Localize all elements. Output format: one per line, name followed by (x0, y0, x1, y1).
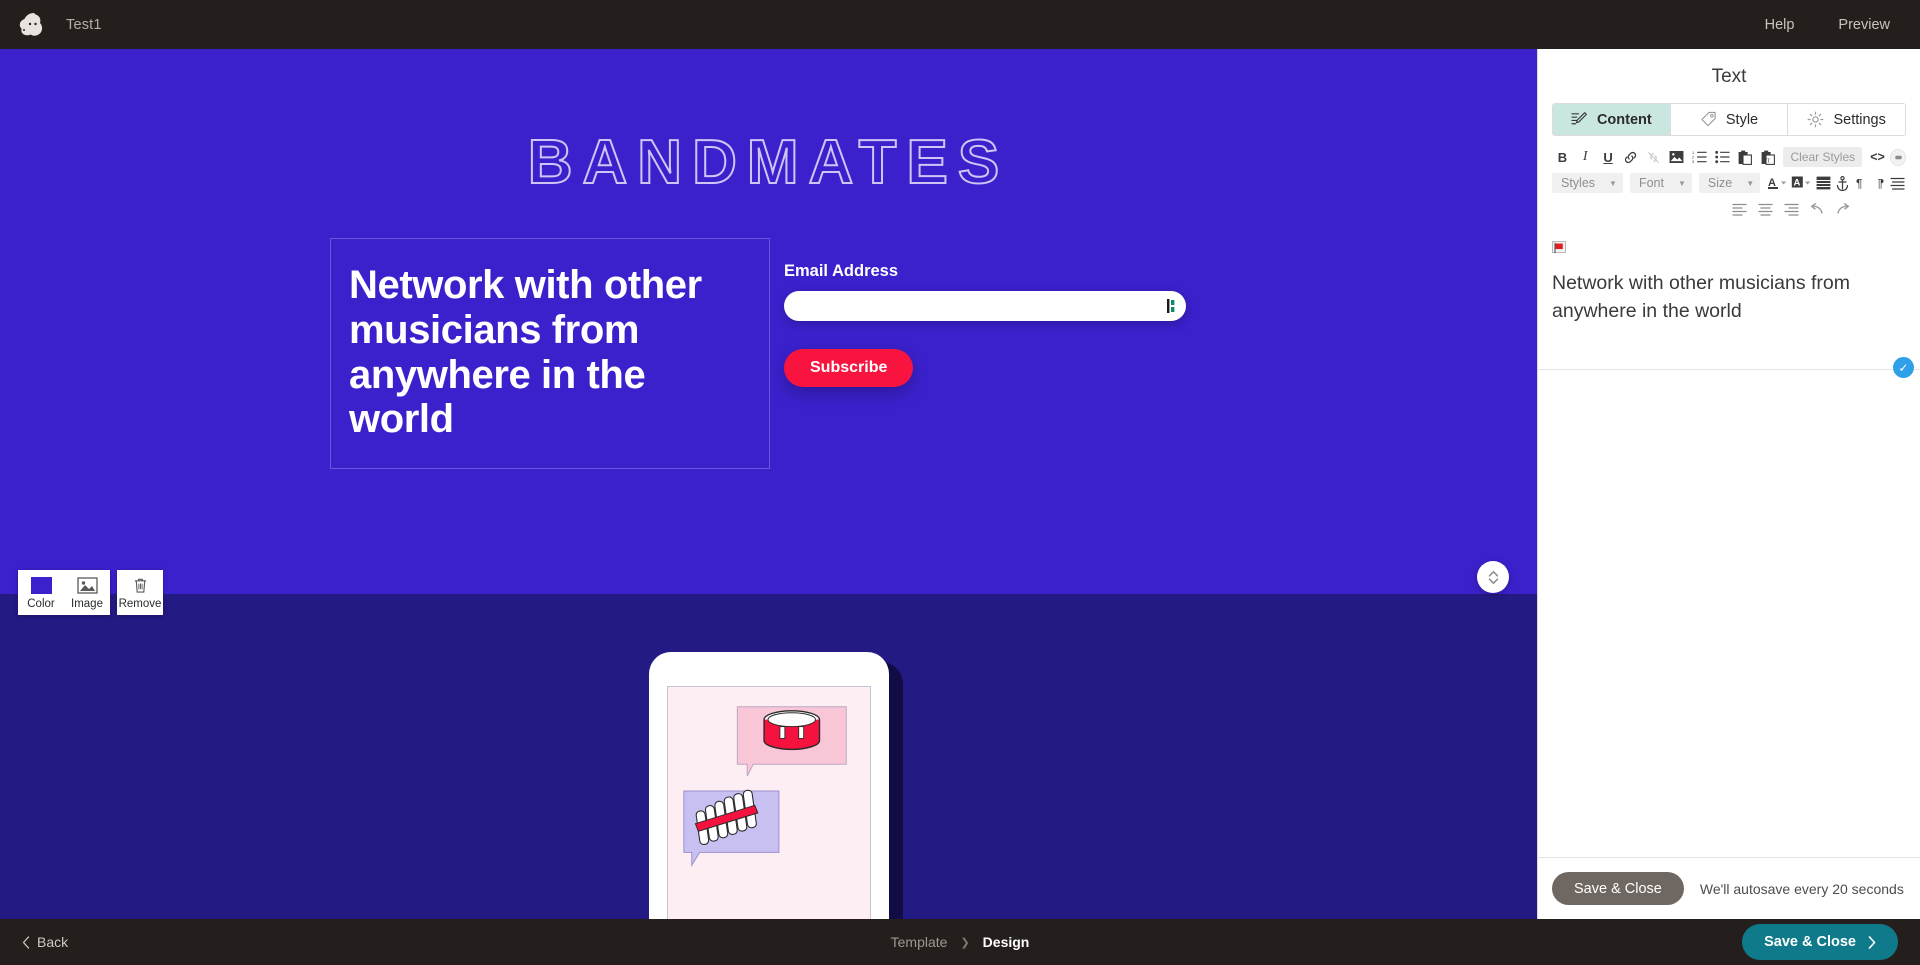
svg-text:A: A (1794, 178, 1801, 189)
signup-form-block[interactable]: Email Address Subscribe (784, 238, 1214, 469)
svg-text:¶: ¶ (1878, 177, 1884, 191)
document-title: Test1 (66, 17, 102, 33)
ordered-list-icon: 1 2 3 (1692, 150, 1707, 164)
chevron-left-icon (22, 936, 30, 949)
top-bar-actions: Help Preview (1765, 17, 1920, 33)
panel-title: Text (1538, 49, 1920, 103)
clear-styles-button[interactable]: Clear Styles (1783, 147, 1862, 167)
align-left-icon (1732, 203, 1747, 216)
tab-content[interactable]: Content (1553, 104, 1671, 135)
pilcrow-icon: ¶ (1855, 176, 1867, 190)
tab-content-label: Content (1597, 112, 1652, 128)
more-options-icon (1894, 153, 1903, 162)
tab-settings-label: Settings (1833, 112, 1885, 128)
bold-button[interactable]: B (1552, 146, 1573, 168)
italic-button[interactable]: I (1575, 146, 1596, 168)
email-input[interactable] (784, 291, 1186, 321)
tab-settings[interactable]: Settings (1788, 104, 1905, 135)
content-pencil-icon (1571, 111, 1588, 128)
ordered-list-button[interactable]: 1 2 3 (1689, 146, 1710, 168)
background-image-button[interactable]: Image (64, 570, 110, 615)
breadcrumb-separator-icon: ❯ (960, 936, 969, 949)
chevron-up-down-icon (1487, 569, 1500, 586)
undo-button[interactable] (1806, 198, 1828, 220)
app-root: Test1 Help Preview BANDMATES Network wit… (0, 0, 1920, 965)
drum-icon (764, 711, 819, 750)
editor-text-content[interactable]: Network with other musicians from anywhe… (1552, 270, 1906, 325)
underline-button[interactable]: U (1598, 146, 1619, 168)
background-color-button[interactable]: A (1791, 172, 1813, 194)
panel-tabs: Content Style Settings (1552, 103, 1906, 136)
back-button[interactable]: Back (0, 934, 68, 950)
trash-icon (130, 577, 151, 594)
svg-text:¶: ¶ (1856, 177, 1862, 191)
paste-icon (1738, 150, 1752, 165)
color-image-group: Color Image (18, 570, 110, 615)
toolbar-row-3 (1552, 196, 1906, 222)
link-icon (1623, 150, 1638, 165)
size-dropdown[interactable]: Size ▼ (1699, 173, 1760, 193)
align-left-button[interactable] (1728, 198, 1750, 220)
autosave-note: We'll autosave every 20 seconds (1700, 881, 1904, 897)
tab-style[interactable]: Style (1671, 104, 1789, 135)
color-button-label: Color (27, 598, 54, 610)
phone-illustration-area (0, 594, 1537, 919)
email-canvas[interactable]: BANDMATES Network with other musicians f… (0, 49, 1537, 919)
remove-group: Remove (117, 570, 163, 615)
chevron-right-icon (1868, 936, 1876, 949)
breadcrumb-item-design: Design (983, 934, 1030, 950)
svg-text:3: 3 (1692, 159, 1695, 164)
back-button-label: Back (37, 934, 68, 950)
redo-button[interactable] (1832, 198, 1854, 220)
drum-chat-bubble (737, 707, 846, 776)
text-block-content: Network with other musicians from anywhe… (349, 263, 751, 442)
text-color-button[interactable]: A (1767, 172, 1789, 194)
styles-dropdown[interactable]: Styles ▼ (1552, 173, 1623, 193)
align-center-button[interactable] (1754, 198, 1776, 220)
bottom-save-close-button[interactable]: Save & Close (1742, 924, 1898, 960)
panel-save-close-button[interactable]: Save & Close (1552, 872, 1684, 905)
tab-style-label: Style (1726, 112, 1758, 128)
remove-link-button[interactable] (1643, 146, 1664, 168)
style-tag-icon (1700, 111, 1717, 128)
paste-as-text-button[interactable]: T (1758, 146, 1779, 168)
bottom-bar: Back Template ❯ Design Save & Close (0, 919, 1920, 965)
styles-dropdown-label: Styles (1561, 176, 1595, 190)
unordered-list-button[interactable] (1712, 146, 1733, 168)
confirm-check-badge[interactable]: ✓ (1893, 357, 1914, 378)
insert-table-button[interactable] (1815, 172, 1832, 194)
image-icon (77, 577, 98, 594)
paste-text-icon: T (1761, 150, 1775, 165)
email-input-wrap (784, 291, 1186, 321)
brand-logo-text: BANDMATES (0, 49, 1537, 198)
rich-text-editor[interactable]: Network with other musicians from anywhe… (1538, 224, 1920, 857)
svg-text:T: T (1767, 158, 1771, 164)
unlink-icon (1646, 150, 1661, 165)
color-swatch-icon (31, 577, 52, 594)
insert-image-button[interactable] (1666, 146, 1687, 168)
gear-icon (1807, 111, 1824, 128)
remove-button-label: Remove (119, 598, 162, 610)
background-color-button[interactable]: Color (18, 570, 64, 615)
source-code-glyph: <> (1870, 150, 1885, 164)
insert-anchor-button[interactable] (1834, 172, 1851, 194)
text-settings-panel: Text Content Style (1537, 49, 1920, 919)
phone-screen (667, 686, 871, 919)
top-bar: Test1 Help Preview (0, 0, 1920, 49)
paragraph-mark-button[interactable]: ¶ (1852, 172, 1869, 194)
lower-image-section[interactable] (0, 594, 1537, 919)
align-center-icon (1758, 203, 1773, 216)
body-split: BANDMATES Network with other musicians f… (0, 49, 1920, 919)
merge-tag-flag (1552, 240, 1906, 256)
insert-link-button[interactable] (1621, 146, 1642, 168)
pilcrow-rtl-icon: ¶ (1873, 176, 1885, 190)
phone-mockup (649, 652, 889, 919)
selected-text-block[interactable]: Network with other musicians from anywhe… (330, 238, 770, 469)
font-dropdown-label: Font (1639, 176, 1664, 190)
remove-block-button[interactable]: Remove (117, 570, 163, 615)
size-dropdown-label: Size (1708, 176, 1732, 190)
panel-footer: Save & Close We'll autosave every 20 sec… (1538, 857, 1920, 919)
font-dropdown[interactable]: Font ▼ (1630, 173, 1692, 193)
paragraph-direction-button[interactable]: ¶ (1871, 172, 1888, 194)
hero-columns: Network with other musicians from anywhe… (0, 198, 1537, 469)
toolbar-row-1: B I U (1552, 144, 1906, 170)
undo-icon (1809, 203, 1825, 216)
line-height-button[interactable] (1889, 172, 1906, 194)
breadcrumb: Template ❯ Design (891, 934, 1030, 950)
subscribe-button[interactable]: Subscribe (784, 349, 913, 387)
breadcrumb-item-template[interactable]: Template (891, 934, 948, 950)
chevron-down-icon: ▼ (1678, 179, 1686, 188)
help-link[interactable]: Help (1765, 17, 1795, 33)
chat-bubbles-illustration (668, 687, 870, 919)
mailchimp-logo-icon (17, 9, 49, 41)
rich-text-toolbar: B I U (1538, 136, 1920, 224)
table-icon (1816, 176, 1831, 190)
text-color-icon: A (1767, 175, 1789, 191)
source-code-button[interactable]: <> (1867, 146, 1888, 168)
image-button-label: Image (71, 598, 103, 610)
block-background-toolbar: Color Image (18, 570, 163, 615)
anchor-icon (1836, 176, 1849, 191)
redo-icon (1835, 203, 1851, 216)
bottom-save-close-label: Save & Close (1764, 934, 1856, 950)
line-height-icon (1890, 177, 1905, 190)
move-block-handle[interactable] (1477, 561, 1509, 593)
panflute-chat-bubble (683, 789, 778, 865)
red-flag-icon (1552, 240, 1568, 256)
highlight-color-icon: A (1791, 175, 1813, 191)
email-field-label: Email Address (784, 262, 1214, 281)
chevron-down-icon: ▼ (1609, 179, 1617, 188)
image-icon (1669, 150, 1684, 164)
toolbar-row-2: Styles ▼ Font ▼ Size ▼ A (1552, 170, 1906, 196)
editor-divider: ✓ (1538, 369, 1920, 370)
align-right-icon (1784, 203, 1799, 216)
hero-section[interactable]: BANDMATES Network with other musicians f… (0, 49, 1537, 594)
unordered-list-icon (1715, 150, 1730, 164)
paste-button[interactable] (1735, 146, 1756, 168)
preview-link[interactable]: Preview (1838, 17, 1890, 33)
align-right-button[interactable] (1780, 198, 1802, 220)
chevron-down-icon: ▼ (1746, 179, 1754, 188)
toolbar-expand-button[interactable] (1890, 149, 1906, 166)
mailchimp-logo[interactable] (0, 9, 66, 41)
